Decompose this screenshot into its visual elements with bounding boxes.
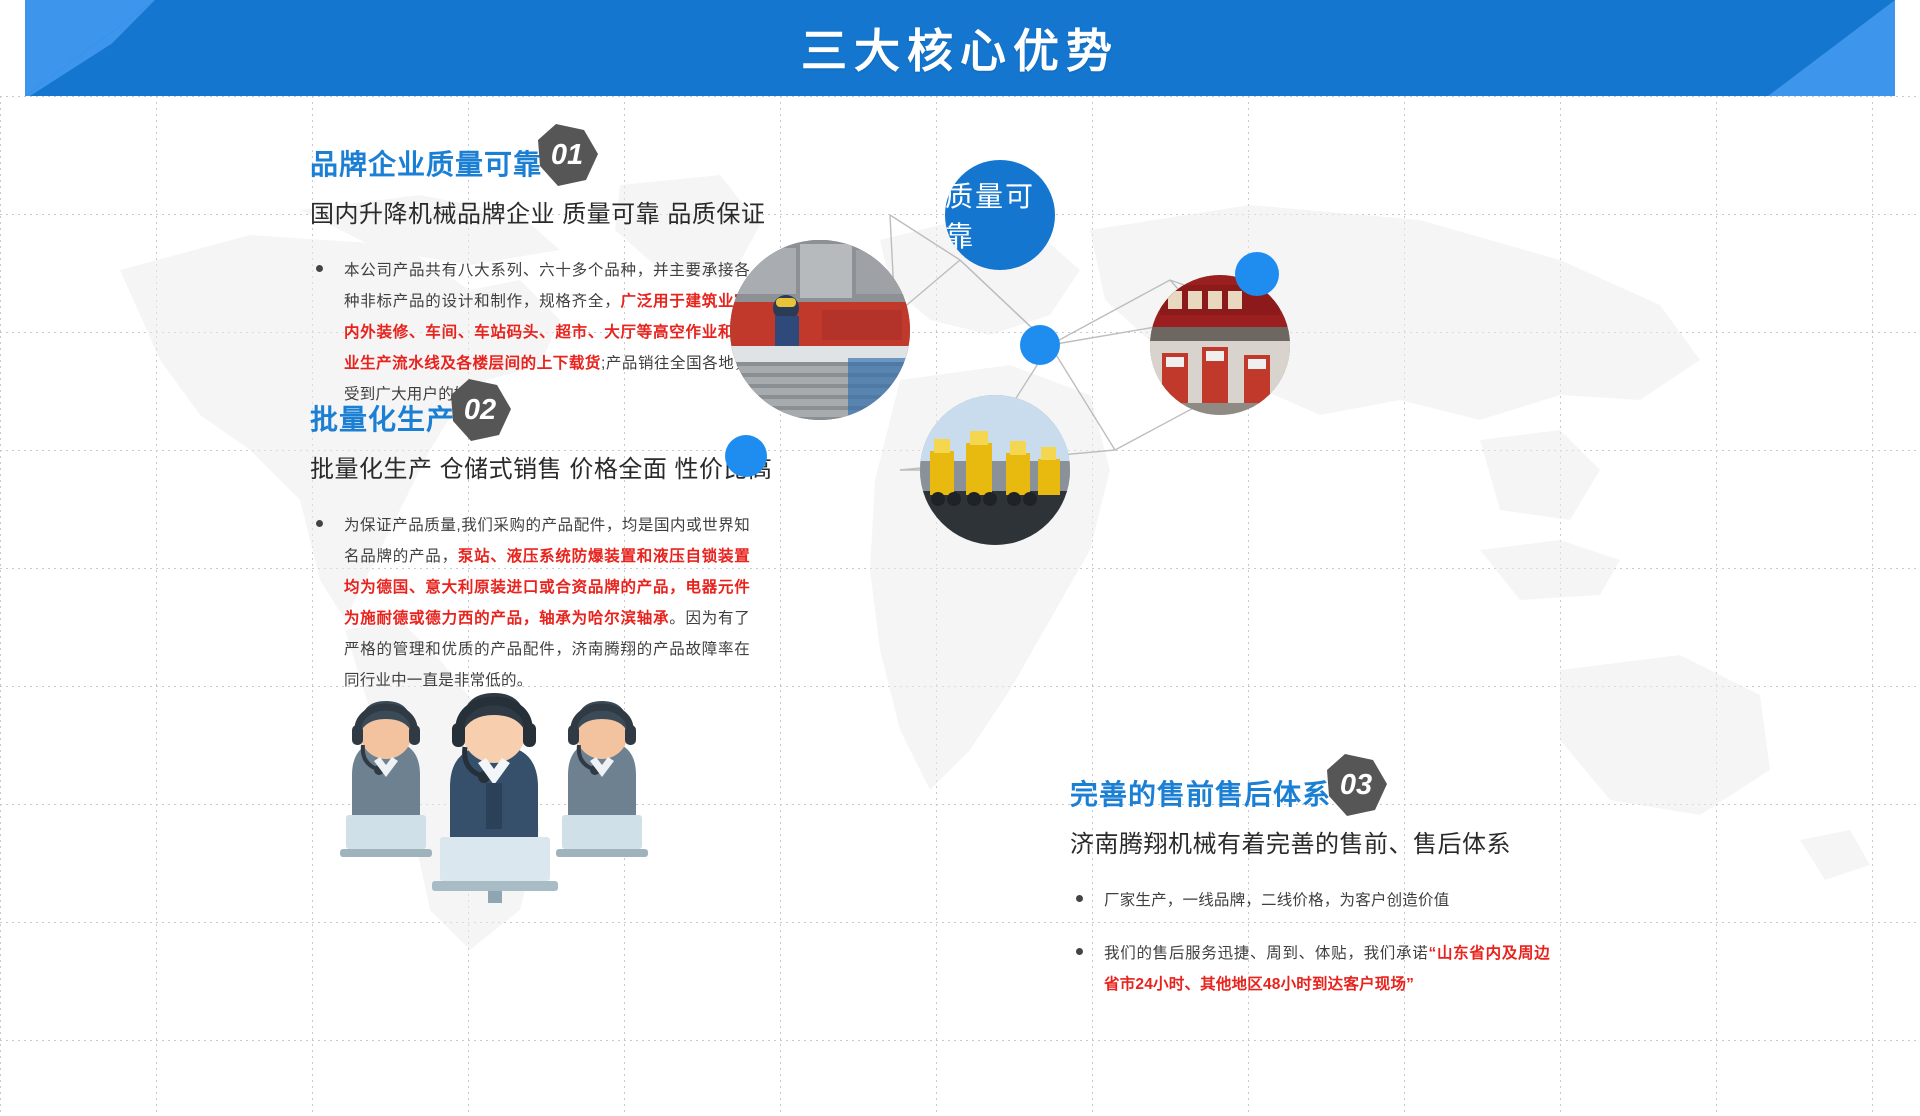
feature-01-number-badge: 01 xyxy=(534,122,600,188)
body-text: 厂家生产，一线品牌，二线价格，为客户创造价值 xyxy=(1104,892,1449,909)
feature-01-subtitle: 国内升降机械品牌企业 质量可靠 品质保证 xyxy=(310,194,750,229)
feature-03-bullets: 厂家生产，一线品牌，二线价格，为客户创造价值 我们的售后服务迅捷、周到、体贴，我… xyxy=(1070,885,1550,1000)
feature-03-bullet-0-text: 厂家生产，一线品牌，二线价格，为客户创造价值 xyxy=(1104,885,1550,916)
list-item: 厂家生产，一线品牌，二线价格，为客户创造价值 xyxy=(1070,885,1550,916)
photo-workshop-production-line[interactable] xyxy=(730,240,910,420)
page-title: 三大核心优势 xyxy=(0,0,1920,96)
feature-03-bullet-1-text: 我们的售后服务迅捷、周到、体贴，我们承诺“山东省内及周边省市24小时、其他地区4… xyxy=(1104,938,1550,1000)
feature-03-number-badge: 03 xyxy=(1323,752,1389,818)
feature-01-bullet-0-text: 本公司产品共有八大系列、六十多个品种，并主要承接各种非标产品的设计和制作，规格齐… xyxy=(344,255,750,410)
body-text: 我们的售后服务迅捷、周到、体贴，我们承诺 xyxy=(1104,945,1428,962)
feature-01-bullets: 本公司产品共有八大系列、六十多个品种，并主要承接各种非标产品的设计和制作，规格齐… xyxy=(310,255,750,410)
hub-quality-reliable[interactable]: 质量可靠 xyxy=(945,160,1055,270)
list-item: 我们的售后服务迅捷、周到、体贴，我们承诺“山东省内及周边省市24小时、其他地区4… xyxy=(1070,938,1550,1000)
feature-block-03: 完善的售前售后体系 03 济南腾翔机械有着完善的售前、售后体系 厂家生产，一线品… xyxy=(1070,780,1550,1022)
feature-02-number: 02 xyxy=(447,377,513,443)
feature-02-number-badge: 02 xyxy=(447,377,513,443)
hub-label: 质量可靠 xyxy=(945,175,1055,255)
list-item: 本公司产品共有八大系列、六十多个品种，并主要承接各种非标产品的设计和制作，规格齐… xyxy=(310,255,750,410)
feature-03-header: 完善的售前售后体系 03 xyxy=(1070,780,1550,818)
feature-03-subtitle: 济南腾翔机械有着完善的售前、售后体系 xyxy=(1070,824,1550,859)
feature-02-subtitle: 批量化生产 仓储式销售 价格全面 性价比高 xyxy=(310,449,750,484)
photo-storefront-lifts[interactable] xyxy=(1150,275,1290,415)
photo-yellow-boom-lifts[interactable] xyxy=(920,395,1070,545)
agent-center xyxy=(432,693,558,903)
feature-01-title: 品牌企业质量可靠 xyxy=(310,150,542,179)
page-root: 三大核心优势 品牌企业质量可靠 01 国内升降机械品牌企业 质量可靠 品质保证 … xyxy=(0,0,1920,1116)
call-center-agents-illustration xyxy=(300,655,720,905)
dot-node-upper-right[interactable] xyxy=(1235,252,1279,296)
bullet-dot-icon xyxy=(316,520,323,527)
bullet-dot-icon xyxy=(316,265,323,272)
feature-02-header: 批量化生产 02 xyxy=(310,405,750,443)
feature-02-title: 批量化生产 xyxy=(310,405,455,434)
agent-left xyxy=(340,701,432,857)
feature-01-number: 01 xyxy=(534,122,600,188)
feature-03-title: 完善的售前售后体系 xyxy=(1070,780,1331,809)
dot-node-left[interactable] xyxy=(725,435,767,477)
feature-03-number: 03 xyxy=(1323,752,1389,818)
network-diagram: 质量可靠 xyxy=(860,140,1870,660)
dot-node-center[interactable] xyxy=(1020,325,1060,365)
feature-block-01: 品牌企业质量可靠 01 国内升降机械品牌企业 质量可靠 品质保证 本公司产品共有… xyxy=(310,150,750,432)
bullet-dot-icon xyxy=(1076,895,1083,902)
agent-right xyxy=(556,701,648,857)
bullet-dot-icon xyxy=(1076,948,1083,955)
header-banner: 三大核心优势 xyxy=(0,0,1920,100)
feature-01-header: 品牌企业质量可靠 01 xyxy=(310,150,750,188)
